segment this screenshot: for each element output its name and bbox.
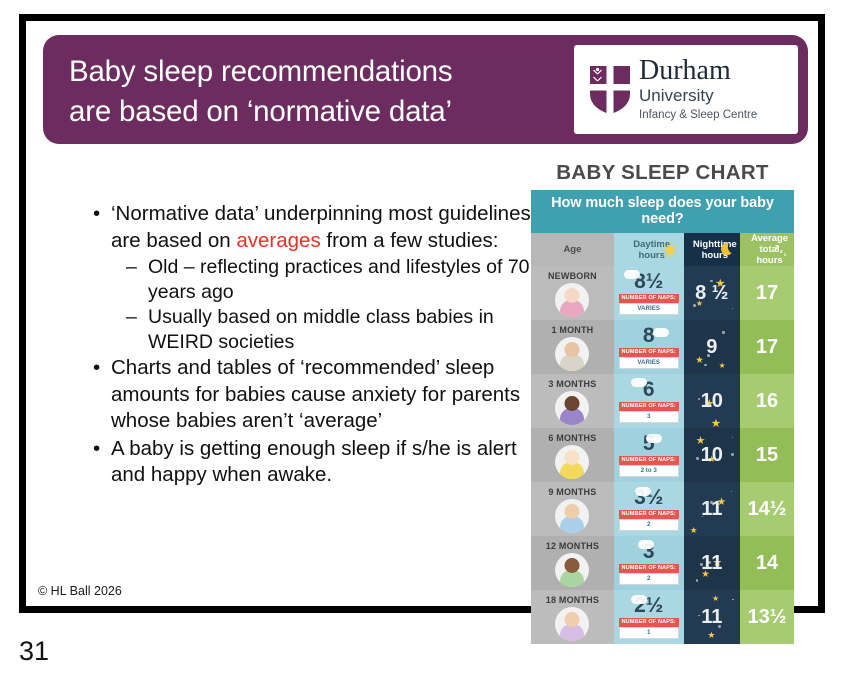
daytime-hours-value: 6 [614,379,684,400]
age-label: 12 MONTHS [531,541,614,551]
column-header-daytime: Daytime hours [614,233,684,266]
naps-value: VARIES [619,357,679,369]
age-label: 9 MONTHS [531,487,614,497]
chart-title: BABY SLEEP CHART [531,161,794,185]
cell-daytime: 3NUMBER OF NAPS:2 [614,536,684,590]
nighttime-hours-value: 11 [701,552,722,574]
durham-logo: Durham University Infancy & Sleep Centre [574,45,798,134]
bullet-item: •Charts and tables of ‘recommended’ slee… [86,355,541,435]
star-dot-icon [731,453,734,456]
cell-nighttime: ★★11 [684,482,741,536]
cell-daytime: 8NUMBER OF NAPS:VARIES [614,320,684,374]
bullet-marker-icon: • [93,436,100,463]
baby-illustration-icon [555,499,589,533]
naps-badge: NUMBER OF NAPS:1 [619,618,679,639]
average-total-hours-value: 15 [756,444,778,466]
cell-daytime: 5NUMBER OF NAPS:2 to 3 [614,428,684,482]
cloud-icon [638,540,654,549]
star-icon: ★ [712,594,719,603]
zzz-icon: z z z [773,242,789,258]
average-total-hours-value: 14½ [748,498,787,520]
star-icon: ★ [707,630,715,641]
cloud-icon [624,270,640,279]
cell-age: 1 MONTH [531,320,614,374]
star-icon: ★ [695,355,704,366]
star-dot-icon [698,615,700,617]
chart-header-row: Age Daytime hours [531,233,794,266]
naps-badge: NUMBER OF NAPS:3 [619,402,679,423]
table-row: 6 MONTHS5NUMBER OF NAPS:2 to 3★★1015 [531,428,794,482]
bullet-text: A baby is getting enough sleep if s/he i… [111,437,517,487]
cell-age: 3 MONTHS [531,374,614,428]
naps-badge: NUMBER OF NAPS:2 to 3 [619,456,679,477]
age-label: 3 MONTHS [531,379,614,389]
naps-value: 1 [619,627,679,639]
nighttime-hours-value: 11 [701,606,722,628]
star-dot-icon [732,437,733,438]
baby-illustration-icon [555,445,589,479]
column-header-nighttime: Nighttime hours [684,233,741,266]
column-header-age-label: Age [563,244,581,255]
daytime-hours-value: 2½ [614,595,684,616]
logo-name: Durham [639,57,757,85]
cell-age: 18 MONTHS [531,590,614,644]
age-label: 18 MONTHS [531,595,614,605]
column-header-average: Average total hours z z z [740,233,794,266]
bullet-marker-icon: • [93,355,100,382]
cell-nighttime: ★★9 [684,320,741,374]
baby-illustration-icon [555,337,589,371]
star-dot-icon [696,457,699,460]
average-total-hours-value: 17 [756,282,778,304]
table-row: 12 MONTHS3NUMBER OF NAPS:2★★1114 [531,536,794,590]
daytime-hours-value: 8 [614,325,684,346]
cloud-icon [635,487,651,496]
average-total-hours-value: 13½ [748,606,787,628]
cell-nighttime: ★★10 [684,374,741,428]
svg-text:z: z [784,252,787,257]
cell-average: 13½ [740,590,794,644]
average-total-hours-value: 14 [756,552,778,574]
star-dot-icon [732,599,734,601]
logo-centre: Infancy & Sleep Centre [639,108,757,122]
bullet-item: •A baby is getting enough sleep if s/he … [86,436,541,489]
naps-badge: NUMBER OF NAPS:VARIES [619,348,679,369]
naps-value: 2 [619,519,679,531]
cell-age: 6 MONTHS [531,428,614,482]
table-row: NEWBORN8½NUMBER OF NAPS:VARIES★★8 ½17 [531,266,794,320]
svg-text:z: z [780,249,783,255]
sun-icon [661,241,679,259]
naps-badge: NUMBER OF NAPS:2 [619,510,679,531]
bullet-text: Charts and tables of ‘recommended’ sleep… [111,356,520,432]
title-banner: Baby sleep recommendations are based on … [43,35,808,144]
slide-title: Baby sleep recommendations are based on … [69,52,569,132]
bullet-item: •‘Normative data’ underpinning most guid… [86,201,541,254]
table-row: 3 MONTHS6NUMBER OF NAPS:3★★1016 [531,374,794,428]
cell-nighttime: ★★11 [684,590,741,644]
age-label: NEWBORN [531,271,614,281]
average-total-hours-value: 16 [756,390,778,412]
cell-daytime: 8½NUMBER OF NAPS:VARIES [614,266,684,320]
baby-illustration-icon [555,391,589,425]
baby-sleep-chart: BABY SLEEP CHART How much sleep does you… [531,161,794,644]
star-icon: ★ [719,361,726,370]
naps-value: 2 [619,573,679,585]
bullet-marker-icon: • [93,201,100,228]
star-dot-icon [732,308,734,310]
cloud-icon [631,378,647,387]
star-dot-icon [722,331,724,333]
star-dot-icon [696,579,699,582]
star-icon: ★ [711,416,721,428]
star-dot-icon [704,364,707,367]
naps-value: 2 to 3 [619,465,679,477]
naps-label: NUMBER OF NAPS: [619,294,679,303]
durham-shield-icon [588,64,632,116]
nighttime-hours-value: 8 ½ [695,282,728,304]
dash-marker-icon: – [126,255,137,280]
nighttime-hours-value: 10 [701,444,723,466]
cell-daytime: 3½NUMBER OF NAPS:2 [614,482,684,536]
chart-table: Age Daytime hours [531,233,794,644]
naps-badge: NUMBER OF NAPS:VARIES [619,294,679,315]
dash-marker-icon: – [126,305,137,330]
cell-daytime: 2½NUMBER OF NAPS:1 [614,590,684,644]
nighttime-hours-value: 10 [701,390,723,412]
cloud-icon [646,434,662,443]
sub-bullet-item: –Old – reflecting practices and lifestyl… [86,255,541,305]
page-number: 31 [19,636,49,667]
nighttime-hours-value: 9 [706,336,717,358]
column-header-age: Age [531,233,614,266]
cell-average: 14½ [740,482,794,536]
naps-value: VARIES [619,303,679,315]
screenshot-root: Baby sleep recommendations are based on … [0,0,858,686]
cell-nighttime: ★★10 [684,428,741,482]
average-total-hours-value: 17 [756,336,778,358]
sub-bullet-item: –Usually based on middle class babies in… [86,305,541,355]
naps-label: NUMBER OF NAPS: [619,348,679,357]
cell-age: 9 MONTHS [531,482,614,536]
slide: Baby sleep recommendations are based on … [19,14,825,613]
nighttime-hours-value: 11 [701,498,722,520]
naps-value: 3 [619,411,679,423]
cell-average: 15 [740,428,794,482]
cloud-icon [653,328,669,337]
cell-age: 12 MONTHS [531,536,614,590]
cloud-icon [631,595,647,604]
baby-illustration-icon [555,553,589,587]
naps-label: NUMBER OF NAPS: [619,402,679,411]
bullet-text-highlight: averages [236,229,320,252]
star-dot-icon [698,398,700,400]
baby-illustration-icon [555,607,589,641]
naps-label: NUMBER OF NAPS: [619,456,679,465]
cell-age: NEWBORN [531,266,614,320]
star-dot-icon [731,491,732,492]
svg-text:z: z [775,244,779,251]
age-label: 6 MONTHS [531,433,614,443]
table-row: 18 MONTHS2½NUMBER OF NAPS:1★★1113½ [531,590,794,644]
table-row: 1 MONTH8NUMBER OF NAPS:VARIES★★917 [531,320,794,374]
naps-label: NUMBER OF NAPS: [619,510,679,519]
bullet-text: Usually based on middle class babies in … [148,306,494,353]
star-icon: ★ [690,525,698,536]
logo-subtitle: University [639,86,757,106]
copyright-text: © HL Ball 2026 [38,584,122,598]
chart-body: NEWBORN8½NUMBER OF NAPS:VARIES★★8 ½171 M… [531,266,794,644]
table-row: 9 MONTHS3½NUMBER OF NAPS:2★★1114½ [531,482,794,536]
bullet-text: Old – reflecting practices and lifestyle… [148,256,530,303]
cell-average: 16 [740,374,794,428]
chart-subtitle: How much sleep does your baby need? [531,190,794,233]
cell-average: 17 [740,266,794,320]
bullet-list: •‘Normative data’ underpinning most guid… [86,201,541,490]
age-label: 1 MONTH [531,325,614,335]
naps-label: NUMBER OF NAPS: [619,564,679,573]
cell-average: 17 [740,320,794,374]
cell-daytime: 6NUMBER OF NAPS:3 [614,374,684,428]
moon-icon [719,242,735,258]
baby-illustration-icon [555,283,589,317]
bullet-text: from a few studies: [321,229,499,252]
naps-label: NUMBER OF NAPS: [619,618,679,627]
cell-average: 14 [740,536,794,590]
naps-badge: NUMBER OF NAPS:2 [619,564,679,585]
cell-nighttime: ★★8 ½ [684,266,741,320]
cell-nighttime: ★★11 [684,536,741,590]
